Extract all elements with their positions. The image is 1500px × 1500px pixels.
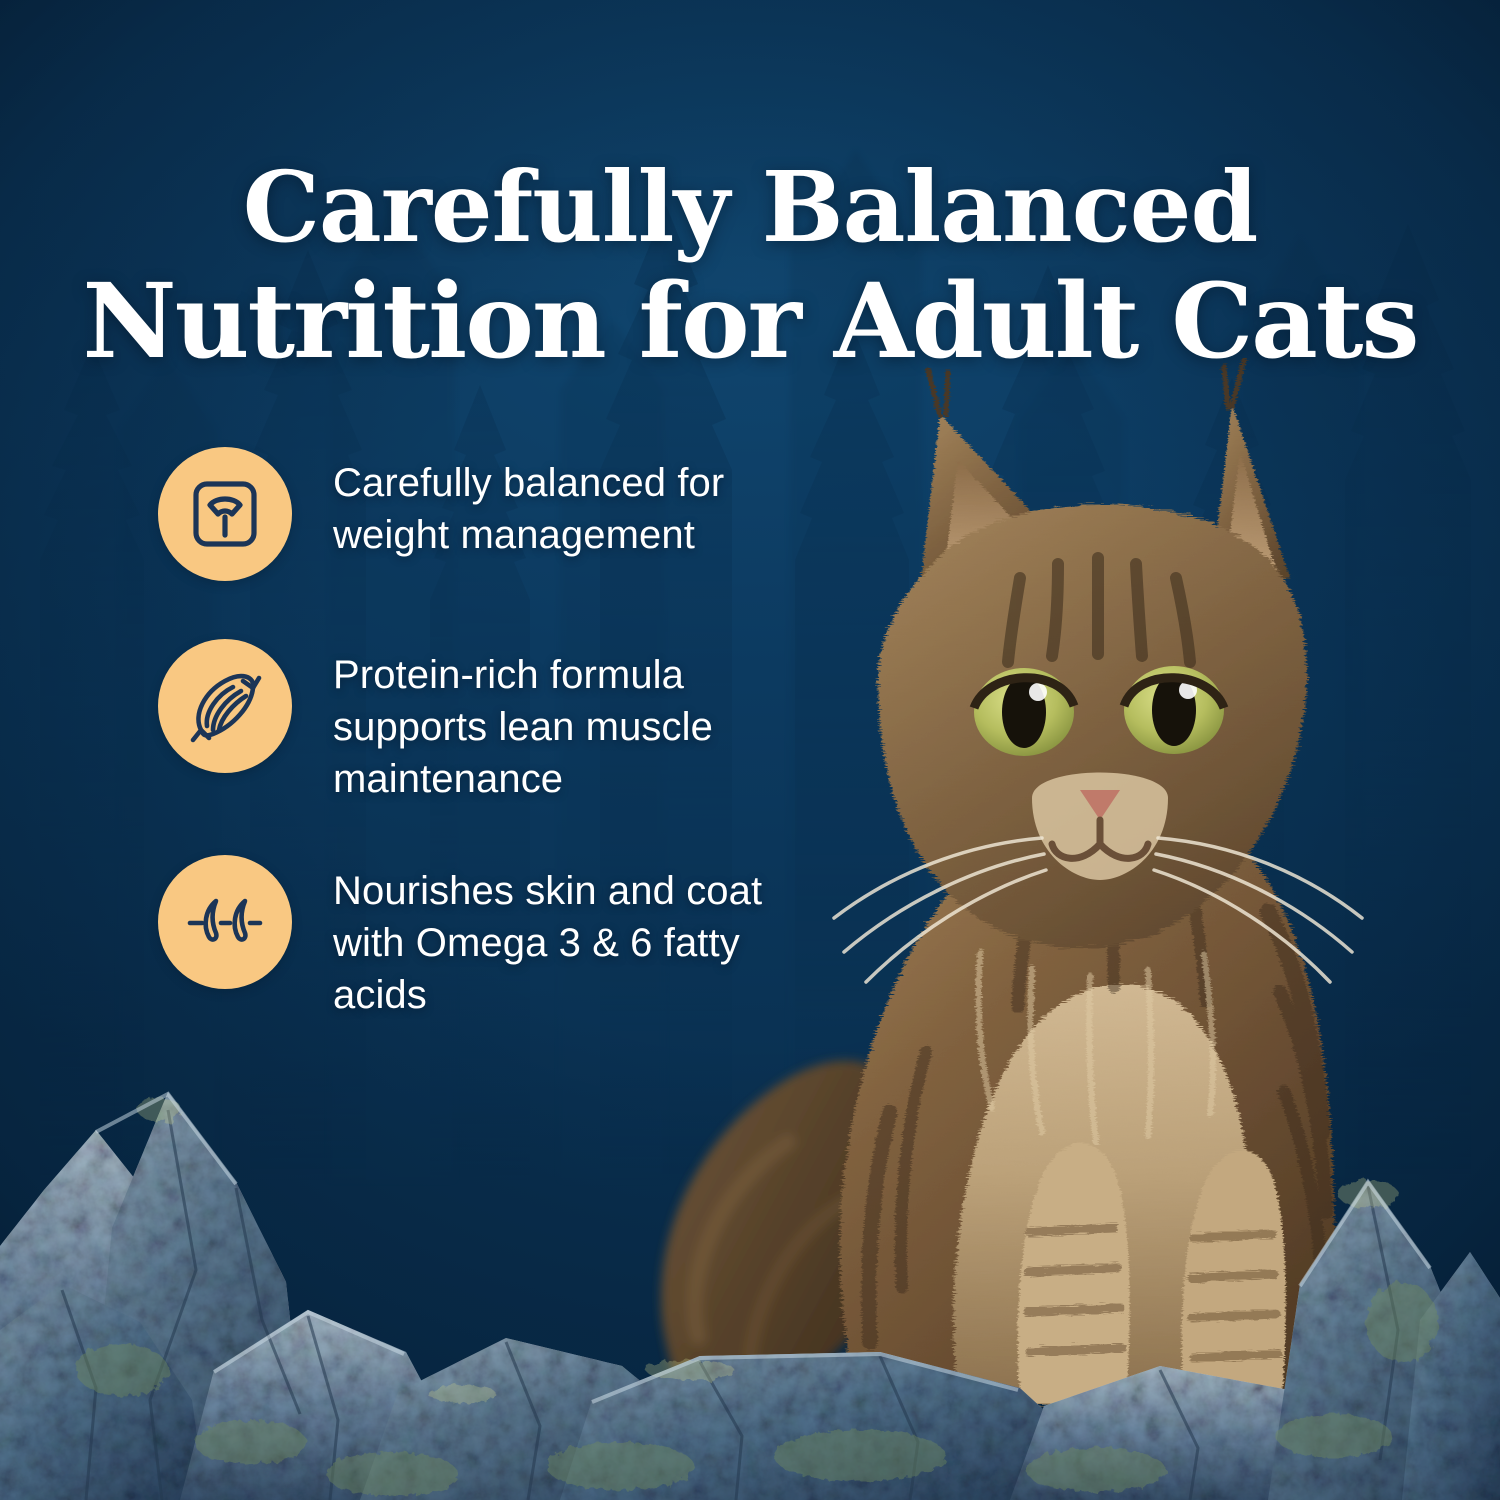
product-feature-banner: Carefully Balanced Nutrition for Adult C… bbox=[0, 0, 1500, 1500]
cat-head bbox=[834, 360, 1362, 982]
feature-list: Carefully balanced for weight management… bbox=[158, 447, 818, 1021]
weight-scale-icon bbox=[158, 447, 292, 581]
headline-line-1: Carefully Balanced bbox=[26, 152, 1474, 263]
feature-text-weight-management: Carefully balanced for weight management bbox=[333, 447, 803, 561]
muscle-fiber-icon bbox=[158, 639, 292, 773]
hair-follicle-icon bbox=[158, 855, 292, 989]
feature-item-weight-management: Carefully balanced for weight management bbox=[158, 447, 818, 581]
foreground-rocks bbox=[0, 1070, 1500, 1500]
page-title: Carefully Balanced Nutrition for Adult C… bbox=[0, 152, 1500, 380]
headline-line-2: Nutrition for Adult Cats bbox=[26, 263, 1474, 380]
feature-item-skin-coat: Nourishes skin and coat with Omega 3 & 6… bbox=[158, 855, 818, 1021]
feature-text-protein: Protein-rich formula supports lean muscl… bbox=[333, 639, 803, 805]
feature-item-protein: Protein-rich formula supports lean muscl… bbox=[158, 639, 818, 805]
feature-text-skin-coat: Nourishes skin and coat with Omega 3 & 6… bbox=[333, 855, 803, 1021]
